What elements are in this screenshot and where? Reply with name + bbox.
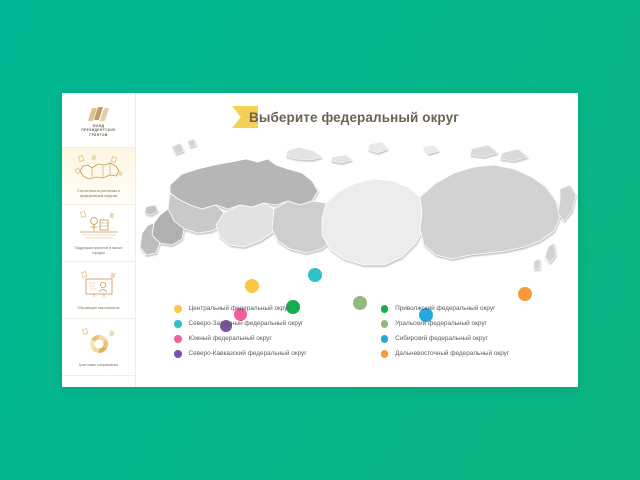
legend-label-volga: Приволжский федеральный округ	[395, 305, 495, 312]
legend-label-ural: Уральский федеральный округ	[395, 320, 487, 327]
legend-column-left: Центральный федеральный округ Северо-Зап…	[174, 305, 307, 358]
sidebar-item-grant-directions-label: Грантовые направления	[79, 363, 119, 368]
page-title: Выберите федеральный округ	[232, 104, 459, 130]
fund-logo[interactable]: ФОНД ПРЕЗИДЕНТСКИХ ГРАНТОВ	[62, 93, 135, 148]
legend-item-central[interactable]: Центральный федеральный округ	[174, 305, 307, 313]
sidebar-item-small-cities[interactable]: Поддержка проектов в малых городах	[62, 205, 135, 262]
map-marker-northwest[interactable]	[308, 268, 322, 282]
map-thumb-icon	[72, 153, 126, 186]
legend-item-south[interactable]: Южный федеральный округ	[174, 335, 307, 343]
russia-federal-districts-map[interactable]	[136, 129, 578, 299]
page-title-text: Выберите федеральный округ	[249, 110, 459, 125]
legend-column-right: Приволжский федеральный округ Уральский …	[381, 305, 510, 358]
sidebar-item-training[interactable]: Обучающие мероприятия	[62, 262, 135, 319]
legend-label-northwest: Северо-Западный федеральный округ	[189, 320, 304, 327]
sidebar: ФОНД ПРЕЗИДЕНТСКИХ ГРАНТОВ Статисти	[62, 93, 136, 387]
training-thumb-icon	[72, 270, 126, 303]
legend-dot-south-icon	[174, 335, 182, 343]
map-marker-fareast[interactable]	[518, 287, 532, 301]
legend-label-central: Центральный федеральный округ	[189, 305, 290, 312]
grant-directions-thumb-icon	[72, 327, 126, 360]
legend-item-ural[interactable]: Уральский федеральный округ	[381, 320, 510, 328]
legend-dot-northwest-icon	[174, 320, 182, 328]
legend-label-south: Южный федеральный округ	[189, 335, 272, 342]
presentation-card: ФОНД ПРЕЗИДЕНТСКИХ ГРАНТОВ Статисти	[62, 93, 578, 387]
map-legend: Центральный федеральный округ Северо-Зап…	[174, 305, 564, 358]
legend-dot-ural-icon	[381, 320, 389, 328]
legend-dot-siberian-icon	[381, 335, 389, 343]
fund-logo-line-3: ГРАНТОВ	[89, 133, 107, 138]
legend-dot-central-icon	[174, 305, 182, 313]
legend-dot-north-caucasus-icon	[174, 350, 182, 358]
sidebar-item-statistics[interactable]: Статистика по регионам и федеральным окр…	[62, 148, 135, 205]
sidebar-item-small-cities-label: Поддержка проектов в малых городах	[68, 246, 130, 255]
legend-dot-volga-icon	[381, 305, 389, 313]
legend-dot-fareast-icon	[381, 350, 389, 358]
legend-item-northwest[interactable]: Северо-Западный федеральный округ	[174, 320, 307, 328]
legend-item-volga[interactable]: Приволжский федеральный округ	[381, 305, 510, 313]
city-projects-thumb-icon	[72, 210, 126, 243]
legend-item-fareast[interactable]: Дальневосточный федеральный округ	[381, 350, 510, 358]
sidebar-item-statistics-label: Статистика по регионам и федеральным окр…	[68, 189, 130, 198]
legend-item-siberian[interactable]: Сибирский федеральный округ	[381, 335, 510, 343]
legend-label-fareast: Дальневосточный федеральный округ	[395, 350, 509, 357]
fund-logo-mark-icon	[90, 107, 107, 121]
legend-label-north-caucasus: Северо-Кавказский федеральный округ	[189, 350, 307, 357]
map-marker-central[interactable]	[245, 279, 259, 293]
legend-label-siberian: Сибирский федеральный округ	[395, 335, 488, 342]
legend-item-north-caucasus[interactable]: Северо-Кавказский федеральный округ	[174, 350, 307, 358]
sidebar-item-grant-directions[interactable]: Грантовые направления	[62, 319, 135, 376]
sidebar-item-training-label: Обучающие мероприятия	[78, 306, 120, 311]
